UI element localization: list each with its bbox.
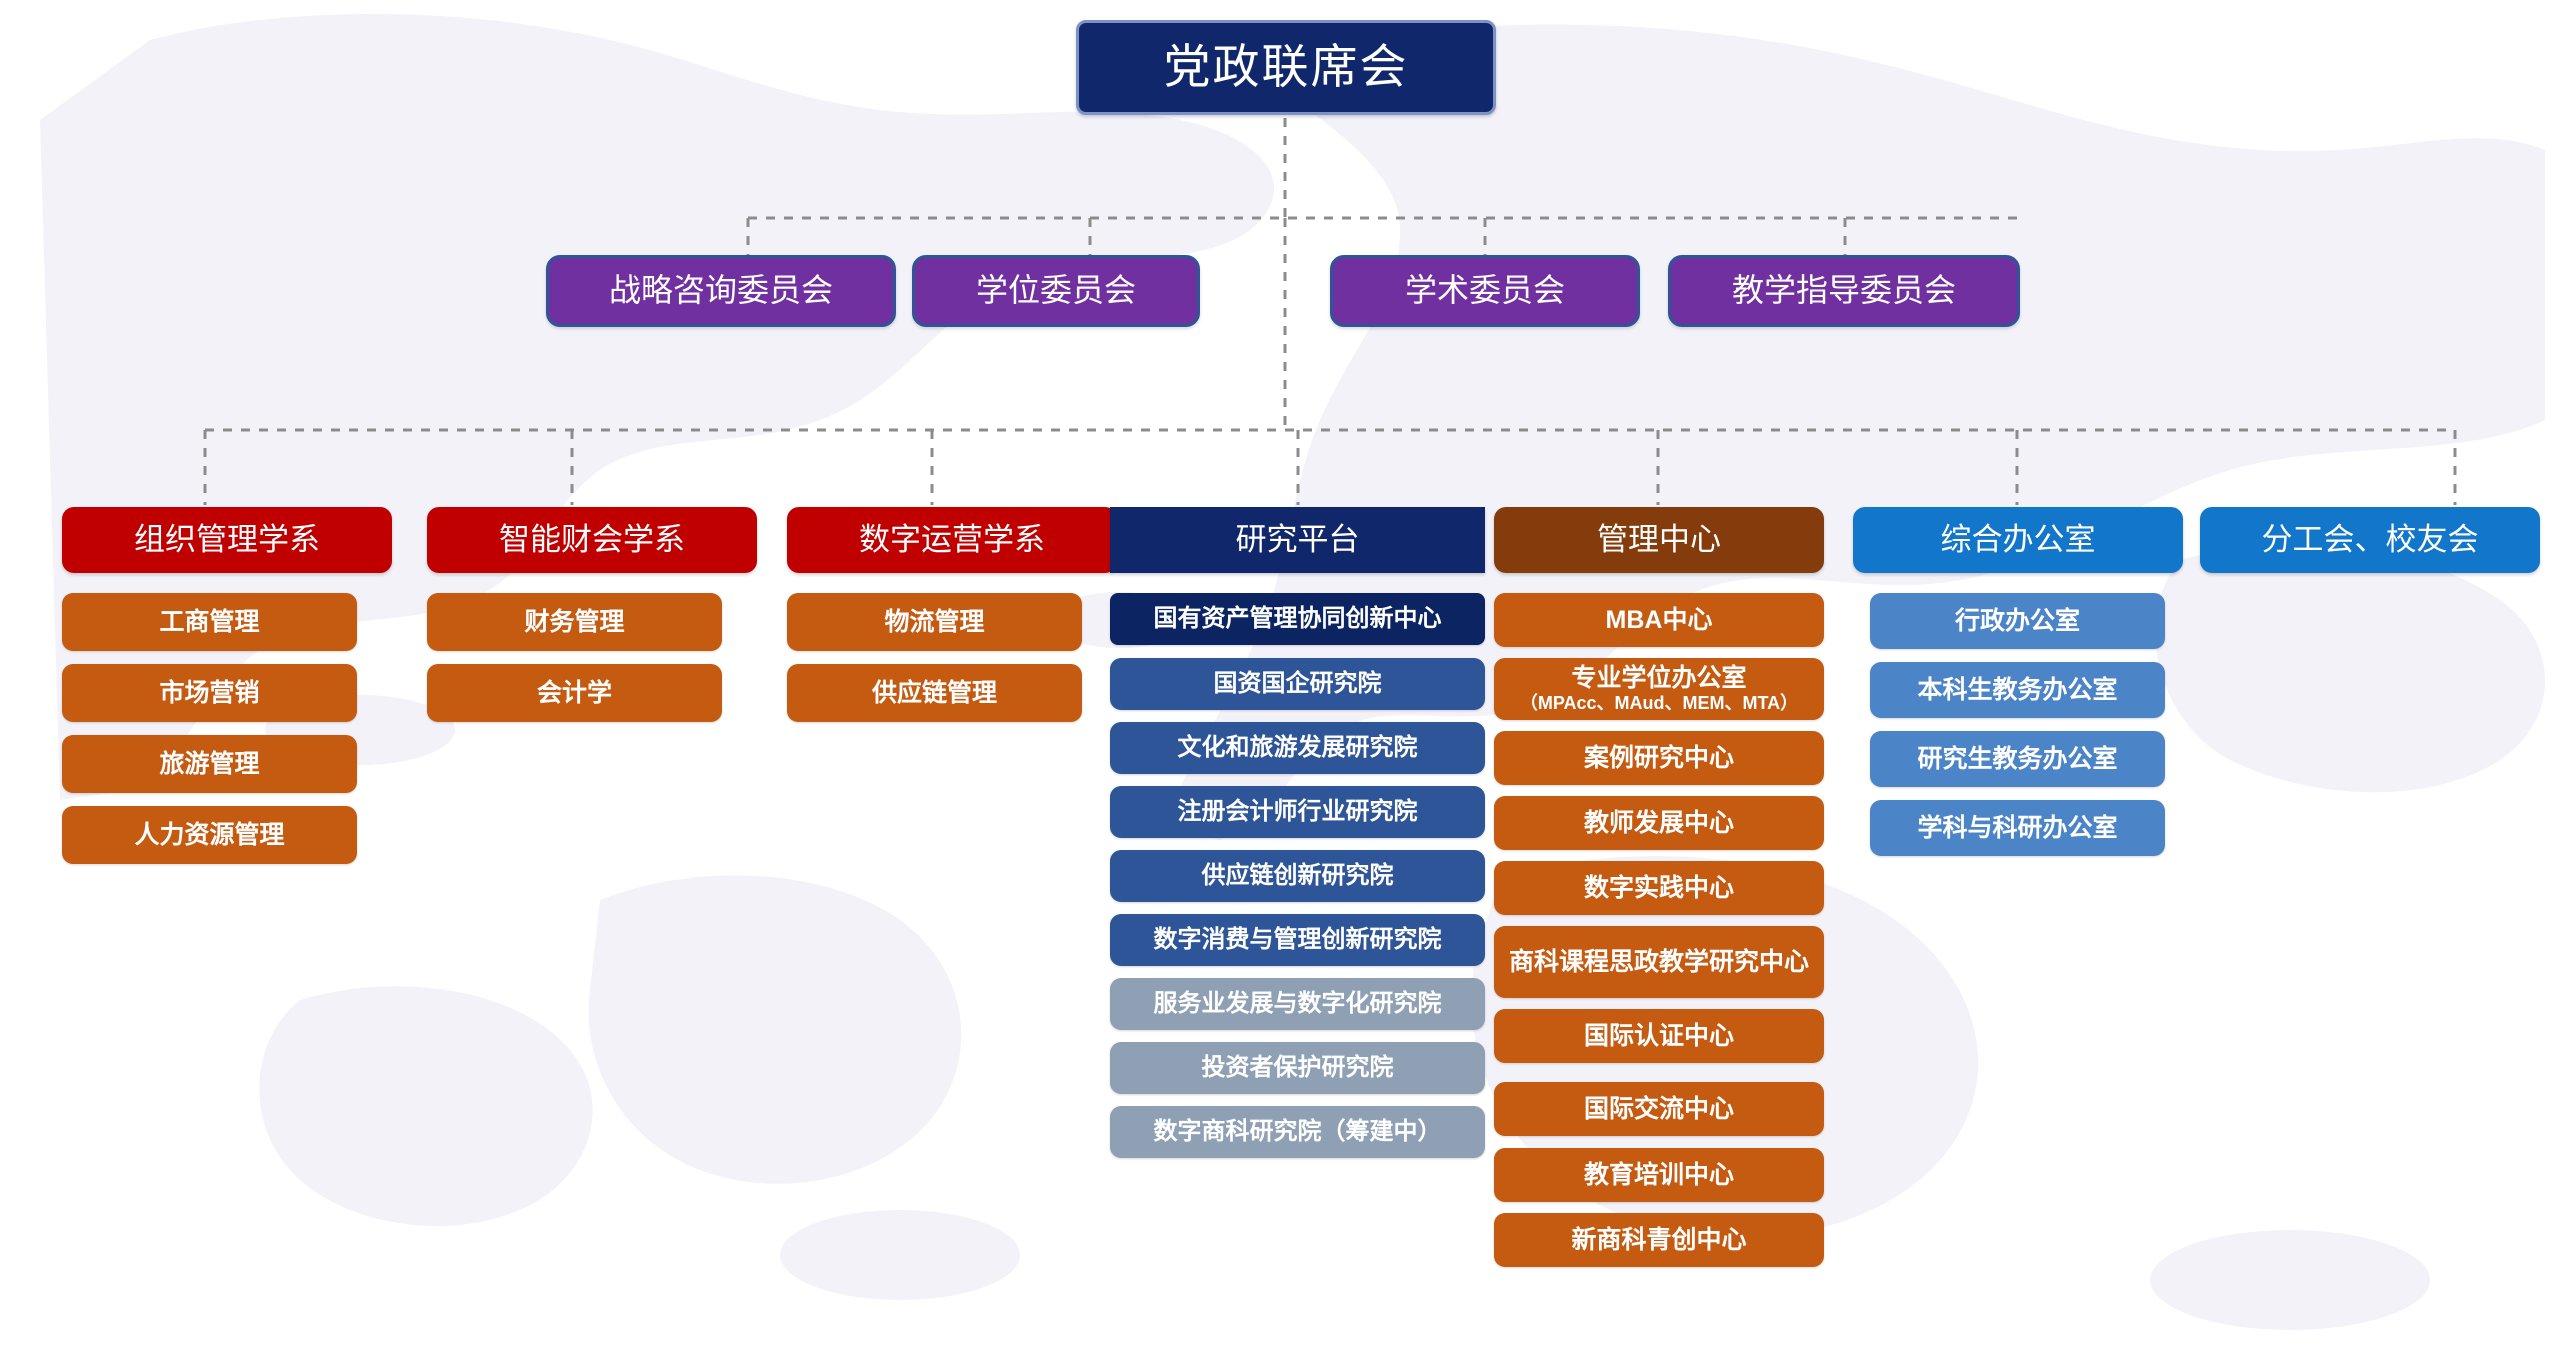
leaf-3-3[interactable]: 注册会计师行业研究院 <box>1110 786 1485 838</box>
column-header-4[interactable]: 管理中心 <box>1494 507 1824 573</box>
leaf-4-0[interactable]: MBA中心 <box>1494 593 1824 647</box>
leaf-3-2[interactable]: 文化和旅游发展研究院 <box>1110 722 1485 774</box>
leaf-5-0[interactable]: 行政办公室 <box>1870 593 2165 649</box>
leaf-4-1-label: 专业学位办公室 <box>1571 664 1746 692</box>
leaf-4-9[interactable]: 新商科青创中心 <box>1494 1213 1824 1267</box>
leaf-0-1[interactable]: 市场营销 <box>62 664 357 722</box>
leaf-0-0[interactable]: 工商管理 <box>62 593 357 651</box>
leaf-4-3[interactable]: 教师发展中心 <box>1494 796 1824 850</box>
committee-node-3[interactable]: 教学指导委员会 <box>1668 255 2020 327</box>
leaf-4-4[interactable]: 数字实践中心 <box>1494 861 1824 915</box>
committee-node-0[interactable]: 战略咨询委员会 <box>546 255 896 327</box>
leaf-0-3[interactable]: 人力资源管理 <box>62 806 357 864</box>
root-node[interactable]: 党政联席会 <box>1076 20 1496 115</box>
column-header-2[interactable]: 数字运营学系 <box>787 507 1117 573</box>
leaf-4-7[interactable]: 国际交流中心 <box>1494 1082 1824 1136</box>
column-header-0[interactable]: 组织管理学系 <box>62 507 392 573</box>
leaf-3-8[interactable]: 数字商科研究院（筹建中） <box>1110 1106 1485 1158</box>
leaf-4-6[interactable]: 国际认证中心 <box>1494 1009 1824 1063</box>
column-header-3[interactable]: 研究平台 <box>1110 507 1485 573</box>
leaf-5-2[interactable]: 研究生教务办公室 <box>1870 731 2165 787</box>
leaf-3-6[interactable]: 服务业发展与数字化研究院 <box>1110 978 1485 1030</box>
leaf-3-0[interactable]: 国有资产管理协同创新中心 <box>1110 593 1485 645</box>
leaf-4-1[interactable]: 专业学位办公室 （MPAcc、MAud、MEM、MTA） <box>1494 658 1824 720</box>
leaf-2-1[interactable]: 供应链管理 <box>787 664 1082 722</box>
leaf-3-1[interactable]: 国资国企研究院 <box>1110 658 1485 710</box>
leaf-3-4[interactable]: 供应链创新研究院 <box>1110 850 1485 902</box>
committee-node-2[interactable]: 学术委员会 <box>1330 255 1640 327</box>
leaf-5-1[interactable]: 本科生教务办公室 <box>1870 662 2165 718</box>
column-header-1[interactable]: 智能财会学系 <box>427 507 757 573</box>
leaf-2-0[interactable]: 物流管理 <box>787 593 1082 651</box>
leaf-4-5[interactable]: 商科课程思政教学研究中心 <box>1494 926 1824 998</box>
leaf-4-1-sublabel: （MPAcc、MAud、MEM、MTA） <box>1520 693 1798 713</box>
leaf-4-8[interactable]: 教育培训中心 <box>1494 1148 1824 1202</box>
leaf-1-1[interactable]: 会计学 <box>427 664 722 722</box>
leaf-3-5[interactable]: 数字消费与管理创新研究院 <box>1110 914 1485 966</box>
committee-node-1[interactable]: 学位委员会 <box>912 255 1200 327</box>
org-chart-canvas: 党政联席会 战略咨询委员会 学位委员会 学术委员会 教学指导委员会 组织管理学系… <box>0 0 2564 1346</box>
leaf-0-2[interactable]: 旅游管理 <box>62 735 357 793</box>
leaf-5-3[interactable]: 学科与科研办公室 <box>1870 800 2165 856</box>
column-header-6[interactable]: 分工会、校友会 <box>2200 507 2540 573</box>
leaf-4-2[interactable]: 案例研究中心 <box>1494 731 1824 785</box>
leaf-3-7[interactable]: 投资者保护研究院 <box>1110 1042 1485 1094</box>
leaf-1-0[interactable]: 财务管理 <box>427 593 722 651</box>
column-header-5[interactable]: 综合办公室 <box>1853 507 2183 573</box>
